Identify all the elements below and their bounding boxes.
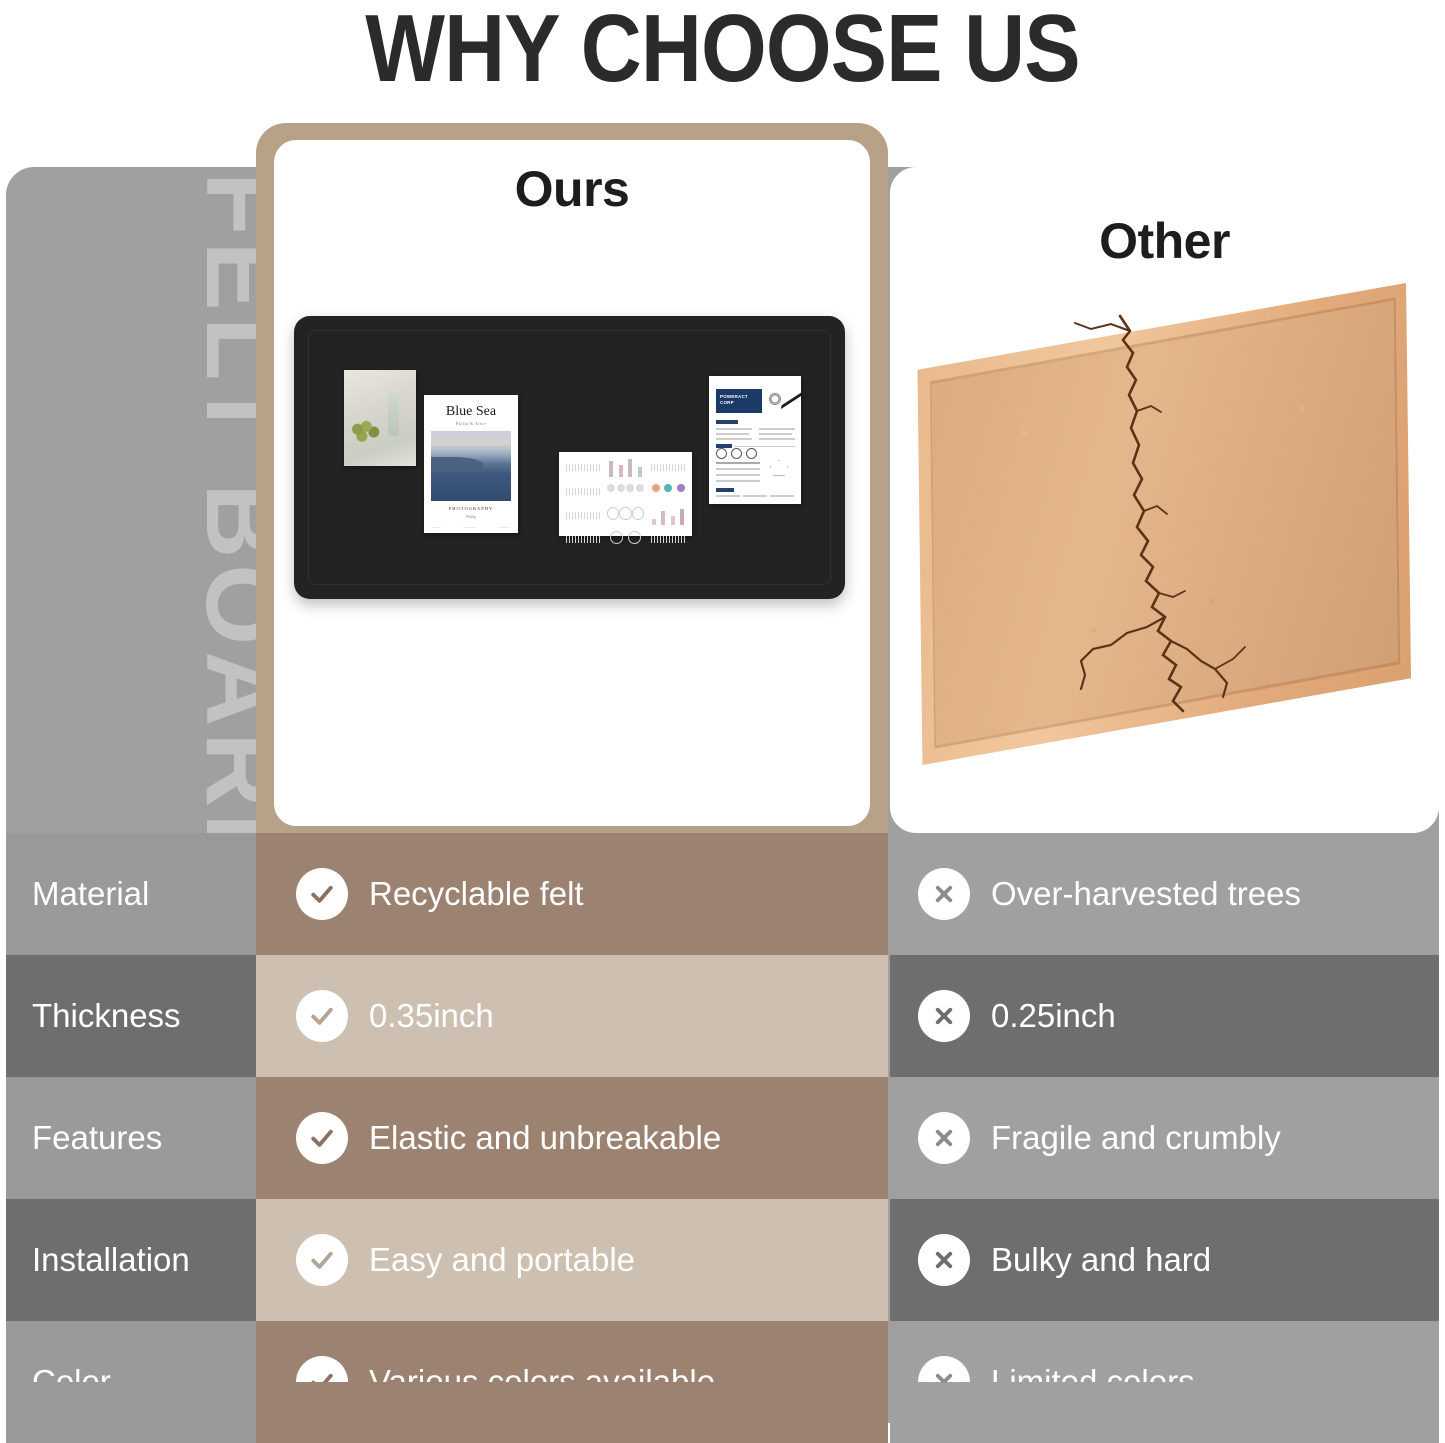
row-other-text: Fragile and crumbly — [991, 1119, 1281, 1157]
check-icon — [296, 990, 348, 1042]
row-other-cell: Bulky and hard — [890, 1199, 1439, 1321]
poster-caption: PHOTOGRAPHY — [424, 506, 518, 511]
other-column-bottom — [890, 1382, 1439, 1423]
cracked-cork-board — [915, 283, 1411, 765]
table-row: Material Recyclable felt Over-harvested … — [0, 833, 1445, 955]
pinned-photo-print — [344, 370, 416, 466]
pinned-infographic-sheet — [559, 452, 692, 536]
ours-column-header: Ours — [274, 160, 870, 218]
table-row: Installation Easy and portable Bulky and… — [0, 1199, 1445, 1321]
row-other-text: Bulky and hard — [991, 1241, 1211, 1279]
row-other-text: Over-harvested trees — [991, 875, 1301, 913]
ours-column-bottom — [256, 1382, 888, 1434]
row-label: Material — [6, 833, 256, 955]
row-ours-text: Easy and portable — [369, 1241, 635, 1279]
felt-board-reflection — [294, 600, 845, 826]
check-icon — [296, 1112, 348, 1164]
row-ours-cell: Recyclable felt — [256, 833, 888, 955]
row-ours-text: 0.35inch — [369, 997, 494, 1035]
poster-footer: ——————————— — [432, 525, 510, 529]
row-label: Installation — [6, 1199, 256, 1321]
document-header-block: POWERACT CORP — [716, 389, 762, 413]
flower-shape — [350, 418, 384, 446]
poster-subtitle: Philip & Alice — [424, 421, 518, 426]
check-icon — [296, 1234, 348, 1286]
bottle-shape — [388, 392, 399, 436]
feather-icon — [781, 387, 803, 412]
row-other-text: 0.25inch — [991, 997, 1116, 1035]
document-title: POWERACT CORP — [720, 394, 762, 406]
pinned-corporate-document: POWERACT CORP — [709, 376, 801, 504]
poster-caption-secondary: Philip — [424, 514, 518, 519]
other-column-header: Other — [890, 212, 1439, 270]
row-ours-cell: Elastic and unbreakable — [256, 1077, 888, 1199]
black-felt-board: Blue Sea Philip & Alice PHOTOGRAPHY Phil… — [294, 316, 845, 599]
row-other-cell: 0.25inch — [890, 955, 1439, 1077]
poster-title: Blue Sea — [424, 404, 518, 420]
cross-icon — [918, 1112, 970, 1164]
cross-icon — [918, 1234, 970, 1286]
table-row: Features Elastic and unbreakable Fragile… — [0, 1077, 1445, 1199]
check-icon — [296, 868, 348, 920]
row-ours-cell: 0.35inch — [256, 955, 888, 1077]
row-other-cell: Fragile and crumbly — [890, 1077, 1439, 1199]
poster-photo — [431, 431, 511, 501]
row-ours-text: Recyclable felt — [369, 875, 584, 913]
row-ours-text: Elastic and unbreakable — [369, 1119, 721, 1157]
pinned-blue-sea-poster: Blue Sea Philip & Alice PHOTOGRAPHY Phil… — [424, 395, 518, 533]
row-other-cell: Over-harvested trees — [890, 833, 1439, 955]
seal-icon — [767, 391, 783, 407]
row-label: Thickness — [6, 955, 256, 1077]
page-title: WHY CHOOSE US — [87, 0, 1359, 104]
cross-icon — [918, 868, 970, 920]
crack-graphic — [915, 283, 1411, 765]
row-ours-cell: Easy and portable — [256, 1199, 888, 1321]
label-column-bottom — [6, 1382, 256, 1423]
table-row: Thickness 0.35inch 0.25inch — [0, 955, 1445, 1077]
row-label: Features — [6, 1077, 256, 1199]
cross-icon — [918, 990, 970, 1042]
